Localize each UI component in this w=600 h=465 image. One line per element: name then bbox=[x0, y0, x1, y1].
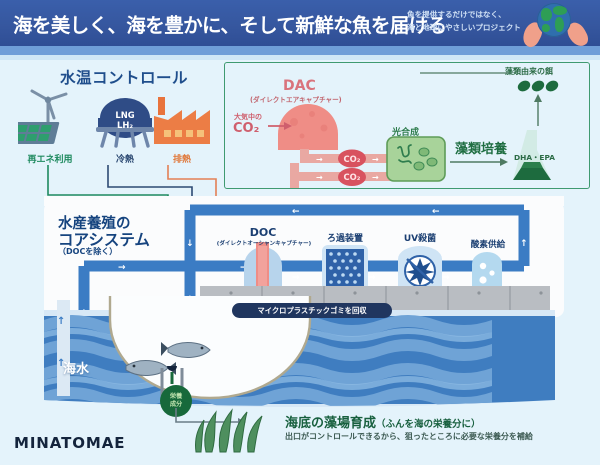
svg-text:CO₂: CO₂ bbox=[344, 154, 361, 164]
dha-epa-label: DHA・EPA bbox=[514, 152, 555, 163]
svg-text:↓: ↓ bbox=[186, 239, 194, 249]
header-strip-light bbox=[0, 55, 600, 60]
unit-flow-arrows: →→→ bbox=[290, 270, 476, 284]
algae-feed-label: 藻類由来の餌 bbox=[505, 66, 553, 77]
svg-text:→: → bbox=[316, 155, 323, 164]
bottom-title-paren: （ふんを海の栄養分に） bbox=[376, 419, 481, 430]
svg-text:→: → bbox=[118, 263, 126, 273]
microplastic-badge: マイクロプラスチックゴミを回収 bbox=[232, 303, 392, 318]
svg-text:↑: ↑ bbox=[57, 316, 65, 327]
svg-text:→: → bbox=[316, 173, 323, 182]
bottom-title-main: 海底の藻場育成 bbox=[285, 416, 376, 431]
algae-culture-arrow-icon bbox=[450, 155, 512, 169]
lng-tank-text: LNG LH₂ bbox=[106, 110, 144, 130]
header-subtitle-line1: 魚を提供するだけではなく、 bbox=[407, 9, 527, 22]
header-subtitle-line2: 海と地球にやさしいプロジェクト bbox=[407, 22, 527, 35]
svg-text:→: → bbox=[368, 273, 376, 283]
bottom-subtitle: 出口がコントロールできるから、狙ったところに必要な栄養分を補給 bbox=[285, 431, 533, 442]
infographic-root: 海を美しく、海を豊かに、そして新鮮な魚を届ける 魚を提供するだけではなく、 海と… bbox=[0, 0, 600, 465]
seaweed-icon bbox=[194, 398, 274, 454]
doc-capture-icon bbox=[236, 240, 290, 292]
page-title: 海を美しく、海を豊かに、そして新鮮な魚を届ける bbox=[13, 9, 413, 38]
seawater-label: 海水 bbox=[63, 358, 89, 377]
svg-text:→: → bbox=[442, 273, 450, 283]
unit-name-filter: ろ過装置 bbox=[316, 231, 374, 244]
factory-icon bbox=[150, 92, 214, 150]
svg-text:↑: ↑ bbox=[520, 239, 528, 249]
atmospheric-co2-value: CO₂ bbox=[233, 121, 259, 136]
svg-text:→: → bbox=[372, 155, 379, 164]
brand-logo: MINATOMAE bbox=[14, 434, 125, 452]
water-control-title: 水温コントロール bbox=[60, 66, 188, 88]
feed-connector-line bbox=[420, 70, 510, 76]
unit-name-oxygen: 酸素供給 bbox=[460, 238, 516, 250]
svg-text:←: ← bbox=[432, 207, 440, 217]
svg-text:CO₂: CO₂ bbox=[344, 172, 361, 182]
unit-name-doc: DOC bbox=[232, 226, 294, 239]
unit-name-uv: UV殺菌 bbox=[392, 231, 448, 244]
svg-text:←: ← bbox=[292, 207, 300, 217]
svg-text:→: → bbox=[292, 273, 300, 283]
nutrient-line1: 栄養 bbox=[160, 393, 192, 401]
globe-icon bbox=[537, 3, 571, 37]
header-subtitle: 魚を提供するだけではなく、 海と地球にやさしいプロジェクト bbox=[407, 9, 527, 34]
photosynthesis-tank-icon bbox=[386, 136, 446, 182]
bottom-title: 海底の藻場育成（ふんを海の栄養分に） bbox=[285, 412, 481, 431]
header-strip bbox=[0, 46, 600, 55]
unit-sub-doc: (ダイレクトオーシャンキャプチャー) bbox=[206, 239, 322, 247]
algae-feed-icon bbox=[516, 78, 560, 130]
uv-sterilizer-icon bbox=[395, 245, 445, 292]
svg-text:→: → bbox=[372, 173, 379, 182]
wind-turbine-solar-panel-icon bbox=[18, 88, 84, 150]
seawater-intake-pipe: ↑↑ bbox=[52, 300, 78, 396]
filter-unit-icon bbox=[321, 244, 369, 292]
globe-in-hands-icon bbox=[525, 2, 587, 52]
